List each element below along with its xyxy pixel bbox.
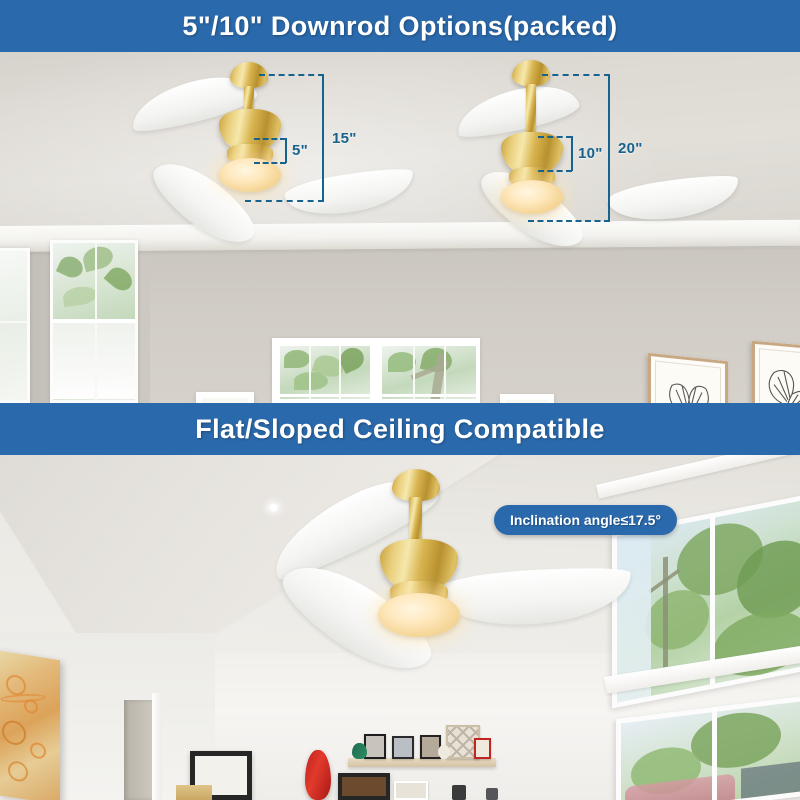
fan-canopy xyxy=(512,60,550,86)
lattice-panel-art xyxy=(196,392,254,403)
left-window-secondary xyxy=(0,248,30,403)
console-frame-light xyxy=(394,781,428,800)
dim-line-15in-left xyxy=(322,74,324,201)
dim-line-canopy-top-right xyxy=(542,74,610,76)
fan-downrod xyxy=(409,497,422,545)
botanical-art-2 xyxy=(752,341,800,403)
doorway xyxy=(124,700,154,800)
inclination-angle-badge: Inclination angle≤17.5° xyxy=(494,505,677,535)
console-wood-accent xyxy=(176,785,212,800)
dim-5in-label: 5" xyxy=(292,142,308,159)
shelf-white-orb xyxy=(438,745,450,759)
left-window xyxy=(50,240,138,403)
red-vase xyxy=(305,750,331,800)
banner-downrod-options: 5"/10" Downrod Options(packed) xyxy=(0,0,800,52)
banner-downrod-options-text: 5"/10" Downrod Options(packed) xyxy=(182,11,617,42)
dim-rod-top-left xyxy=(254,138,286,140)
dim-rod-vert-right xyxy=(571,136,573,171)
dim-rod-bottom-right xyxy=(538,170,572,172)
fan-blade xyxy=(434,563,633,631)
shelf-photo-frame xyxy=(392,736,414,759)
console-frame-dark xyxy=(338,773,390,800)
flat-ceiling-room-scene: 15" 5" 20" 10" xyxy=(0,52,800,403)
window-glass xyxy=(621,701,800,800)
botanical-art-1 xyxy=(648,353,728,403)
console-small-object xyxy=(452,785,466,800)
banner-ceiling-compatible-text: Flat/Sloped Ceiling Compatible xyxy=(195,414,605,445)
dim-line-light-bottom-right xyxy=(528,220,610,222)
console-small-object-2 xyxy=(486,788,498,800)
fan-led-light xyxy=(378,593,460,637)
dim-rod-vert-left xyxy=(285,138,287,163)
center-double-window xyxy=(272,338,480,403)
shelf-green-vase xyxy=(352,743,367,759)
dim-line-20in-right xyxy=(608,74,610,221)
shelf-photo-frame xyxy=(364,734,386,759)
shelf-red-frame xyxy=(474,738,491,759)
fan-led-light xyxy=(501,180,563,214)
dim-20in-label: 20" xyxy=(618,140,643,157)
banner-ceiling-compatible: Flat/Sloped Ceiling Compatible xyxy=(0,403,800,455)
abstract-artwork xyxy=(0,650,60,800)
floating-shelf-body xyxy=(348,758,496,767)
lattice-panel-art-2 xyxy=(500,394,554,403)
dim-line-light-bottom-left xyxy=(245,200,324,202)
sloped-ceiling-room-scene: Inclination angle≤17.5° xyxy=(0,455,800,800)
dim-10in-label: 10" xyxy=(578,145,603,162)
dim-rod-bottom-left xyxy=(254,162,286,164)
fan-sloped xyxy=(250,465,610,655)
dim-rod-top-right xyxy=(538,136,572,138)
door-jamb xyxy=(152,693,162,800)
dim-line-canopy-top-left xyxy=(259,74,324,76)
dim-15in-label: 15" xyxy=(332,130,357,147)
fan-downrod xyxy=(526,84,536,136)
product-feature-page: 15" 5" 20" 10" xyxy=(0,0,800,800)
